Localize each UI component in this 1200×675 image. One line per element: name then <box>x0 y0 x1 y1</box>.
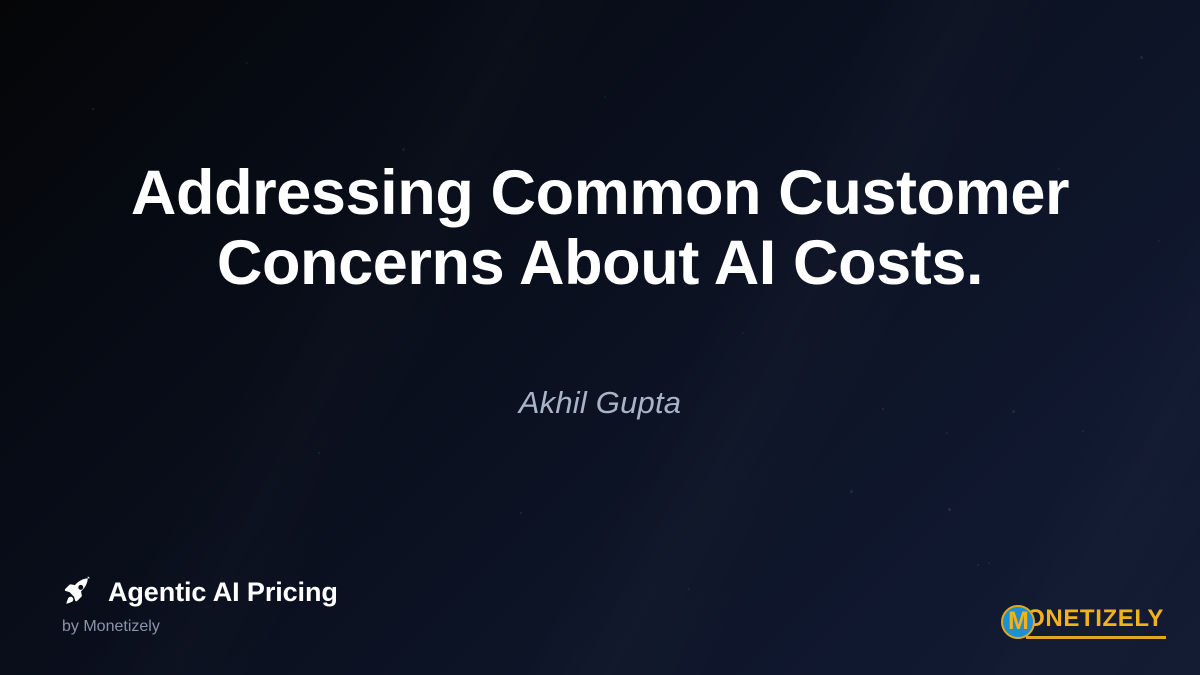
title-line-1: Addressing Common Customer <box>60 158 1140 228</box>
brand-name: Agentic AI Pricing <box>108 577 338 607</box>
presentation-slide: Addressing Common Customer Concerns Abou… <box>0 0 1200 675</box>
brand-row: Agentic AI Pricing <box>60 572 338 612</box>
monetizely-logo-letter: M <box>1008 609 1028 634</box>
page-title: Addressing Common Customer Concerns Abou… <box>0 158 1200 298</box>
monetizely-logo-mark: M <box>1001 605 1035 639</box>
logo-wrap: M ONETIZELY <box>1001 603 1166 641</box>
title-line-2: Concerns About AI Costs. <box>60 228 1140 298</box>
monetizely-logo: M ONETIZELY <box>1001 603 1166 641</box>
brand-subtitle: by Monetizely <box>62 617 338 637</box>
footer-brand: Agentic AI Pricing by Monetizely <box>60 572 338 637</box>
rocket-icon <box>60 575 94 609</box>
author-name: Akhil Gupta <box>0 383 1200 423</box>
monetizely-wordmark: ONETIZELY <box>1026 606 1166 639</box>
